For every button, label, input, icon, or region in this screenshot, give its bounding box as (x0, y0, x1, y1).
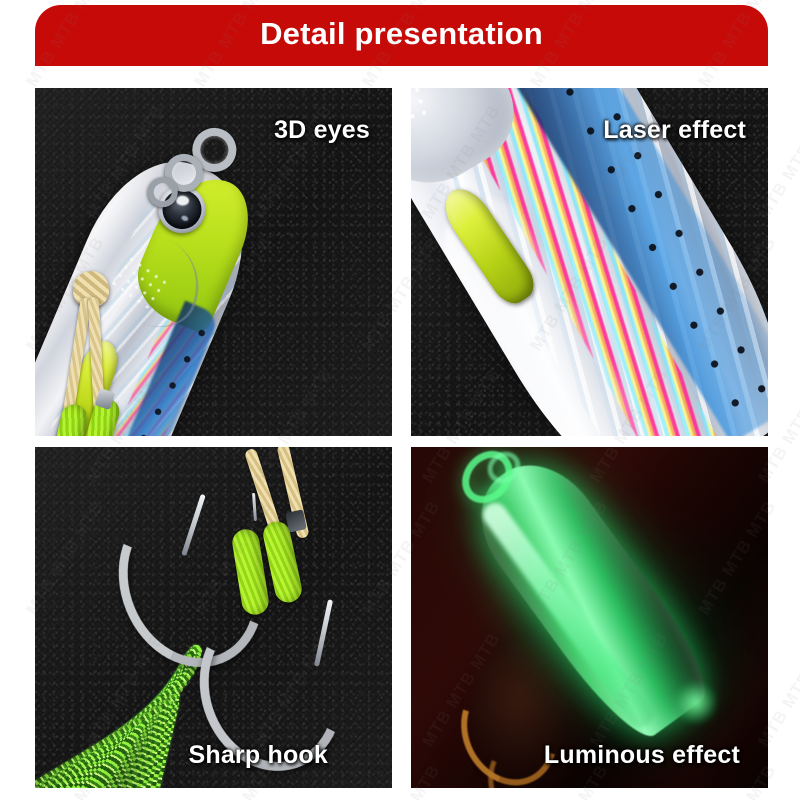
panel-caption-sharp-hook: Sharp hook (188, 743, 328, 768)
detail-image-grid: 3D eyes Laser effect (35, 88, 768, 788)
banner-underline-fill (35, 62, 768, 66)
hook-shank-clip (285, 509, 307, 532)
thread-wrap (47, 402, 90, 436)
panel-caption-luminous-effect: Luminous effect (544, 743, 740, 768)
panel-3d-eyes[interactable]: 3D eyes (35, 88, 392, 436)
green-thread-wraps (231, 515, 331, 625)
panel-caption-3d-eyes: 3D eyes (274, 118, 370, 143)
watermark-text: MTB MTB MTB (0, 101, 1, 223)
green-thread-wraps (45, 398, 131, 436)
panel-laser-effect[interactable]: Laser effect (411, 88, 768, 436)
header-banner: Detail presentation (35, 5, 768, 68)
assist-hook-photo (35, 447, 392, 788)
panel-caption-laser-effect: Laser effect (603, 118, 746, 143)
page-title: Detail presentation (260, 18, 543, 49)
detail-presentation-page: Detail presentation (0, 0, 800, 800)
panel-luminous-effect[interactable]: Luminous effect (411, 447, 768, 788)
watermark-text: MTB MTB MTB (0, 629, 1, 751)
header-banner-inner: Detail presentation (35, 5, 768, 62)
jig-head-dots (411, 88, 433, 136)
panel-sharp-hook[interactable]: Sharp hook (35, 447, 392, 788)
watermark-text: MTB MTB MTB (0, 365, 1, 487)
